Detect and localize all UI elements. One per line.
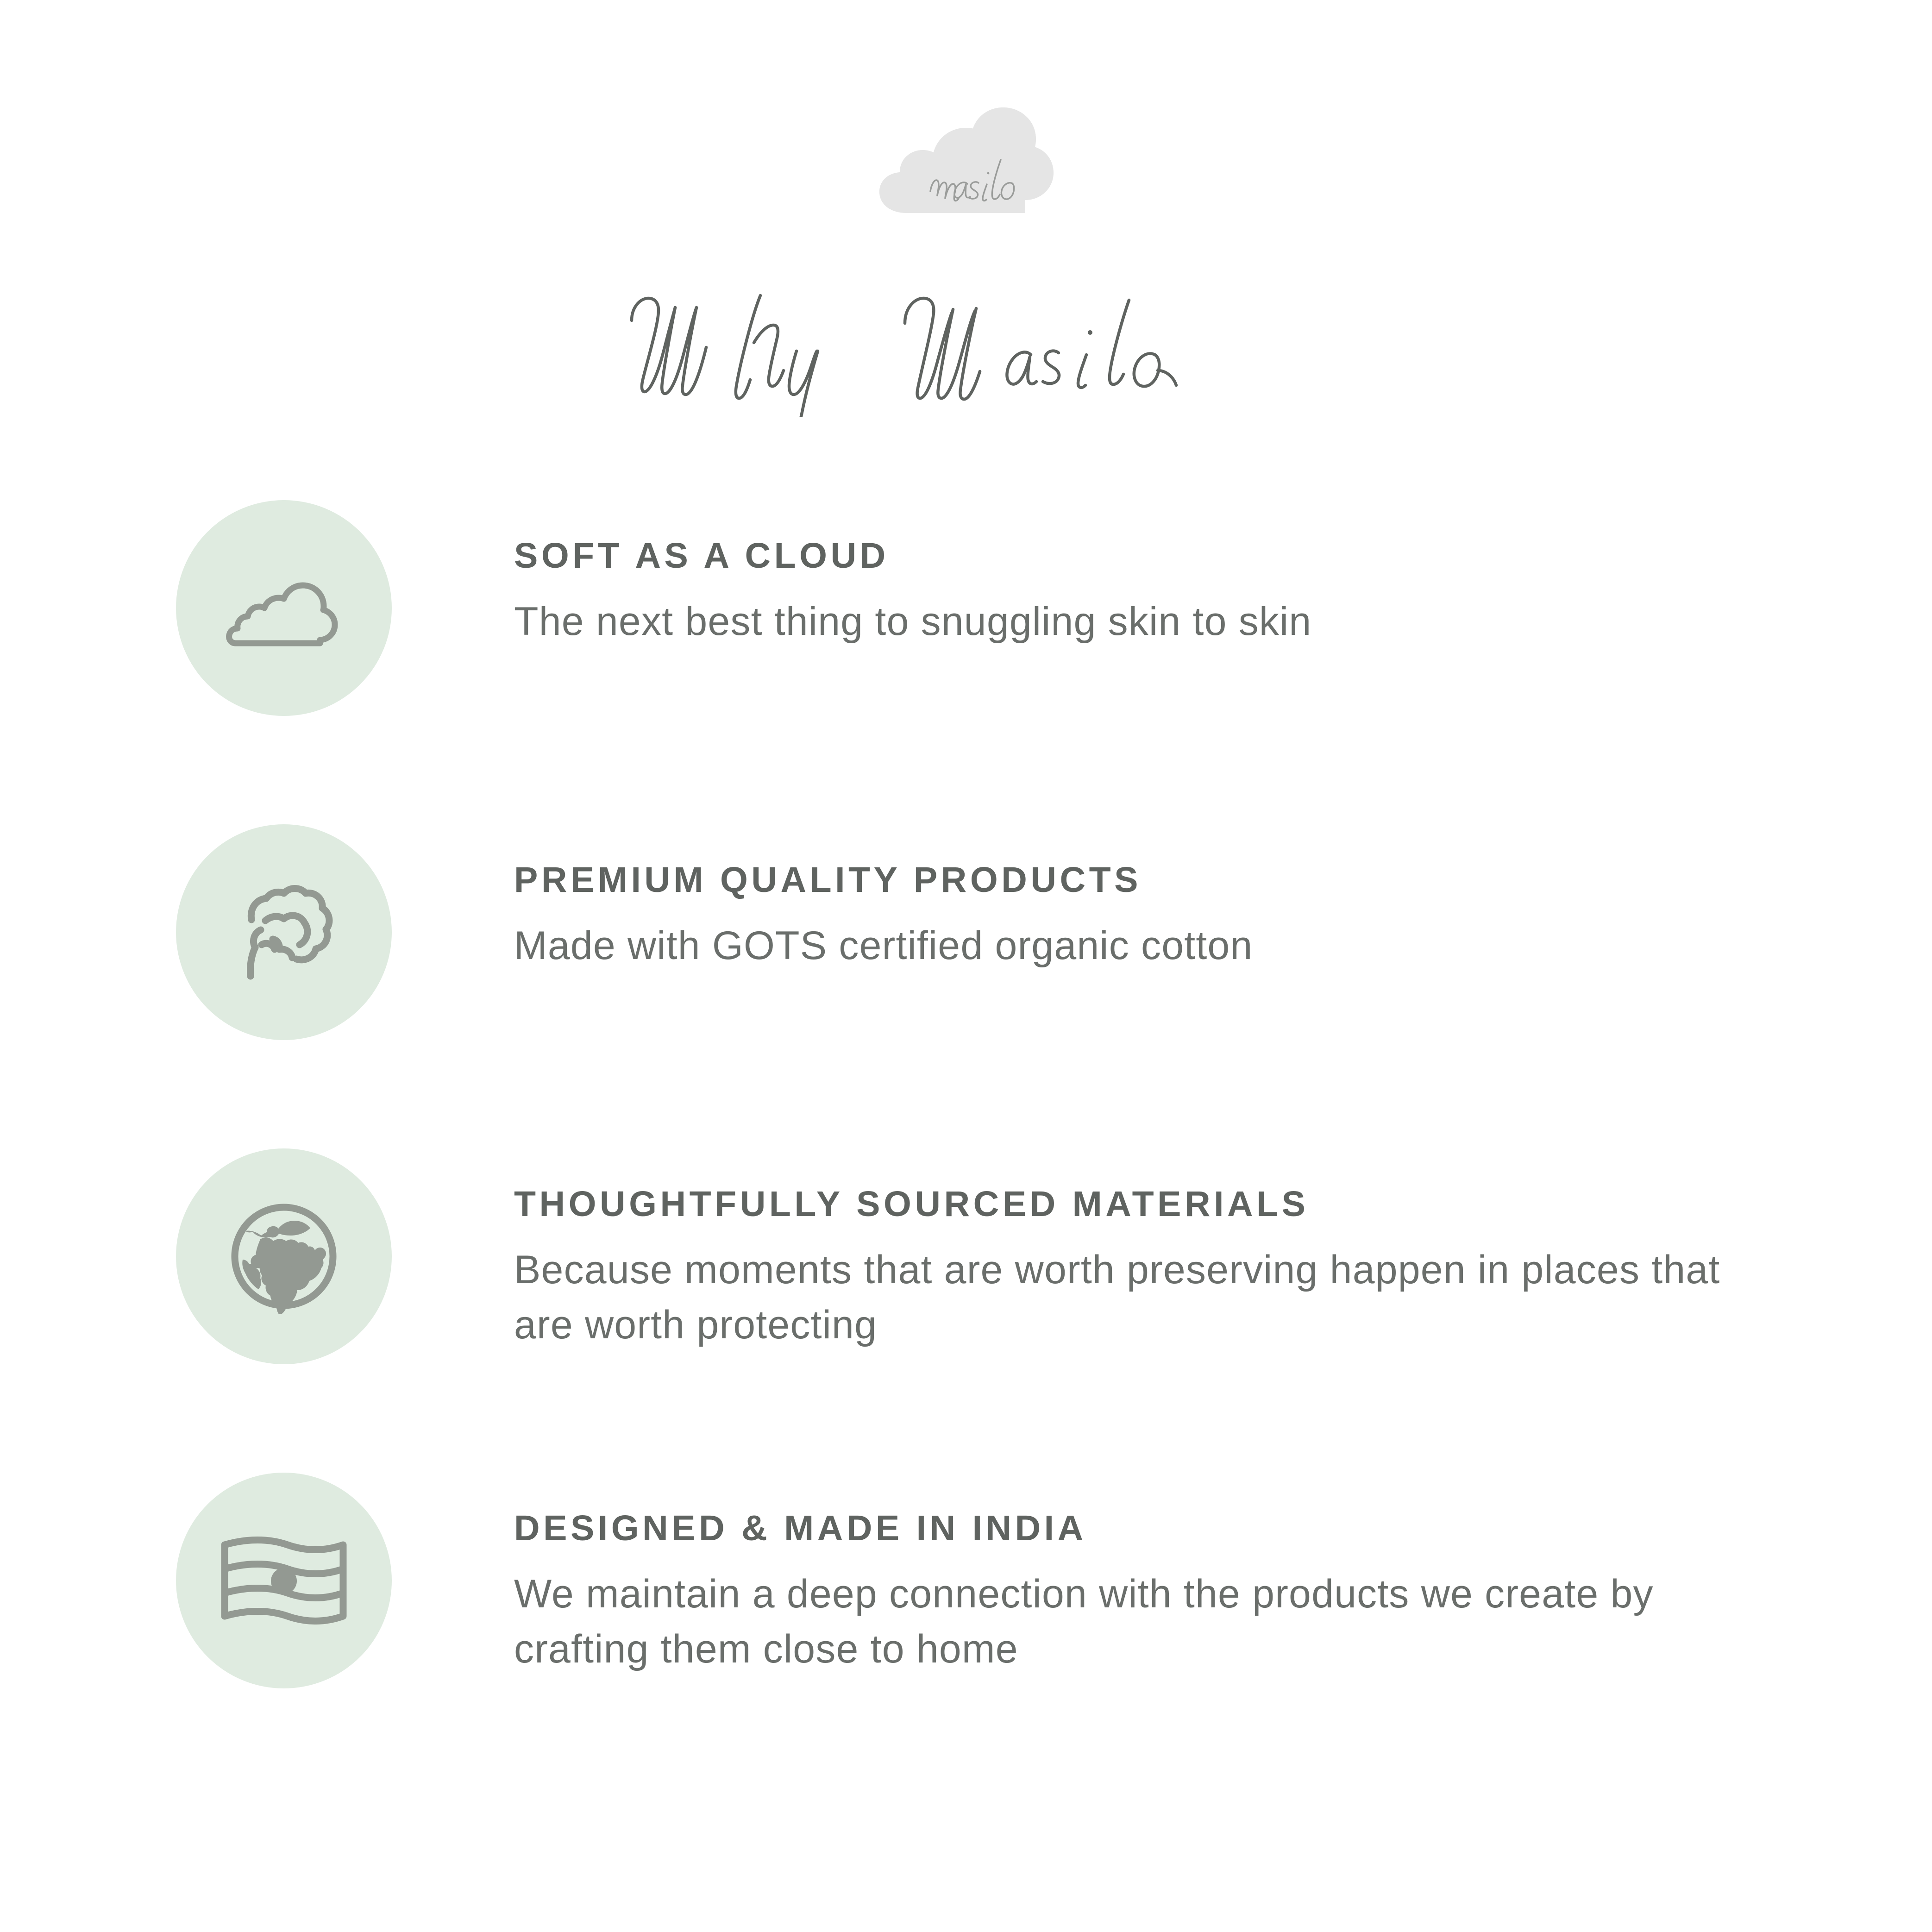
icon-badge [176,824,392,1040]
icon-badge [176,1148,392,1364]
cloud-icon [224,562,344,654]
icon-badge [176,500,392,716]
feature-title: PREMIUM QUALITY PRODUCTS [514,814,1792,898]
feature-text-block: THOUGHTFULLY SOURCED MATERIALS Because m… [514,1138,1792,1352]
feature-description: Made with GOTS certified organic cotton [514,898,1764,973]
feature-row-thoughtfully-sourced-materials: THOUGHTFULLY SOURCED MATERIALS Because m… [0,1138,1932,1462]
feature-text-block: DESIGNED & MADE IN INDIA We maintain a d… [514,1462,1792,1676]
feature-title: THOUGHTFULLY SOURCED MATERIALS [514,1138,1792,1222]
feature-description: We maintain a deep connection with the p… [514,1546,1764,1676]
why-masilo-page: Why Masilo [0,0,1932,1932]
feature-description: Because moments that are worth preservin… [514,1222,1764,1352]
brand-logo [0,106,1932,221]
feature-list: SOFT AS A CLOUD The next best thing to s… [0,490,1932,1787]
feature-title: DESIGNED & MADE IN INDIA [514,1462,1792,1546]
feature-description: The next best thing to snuggling skin to… [514,574,1764,649]
icon-badge [176,1473,392,1688]
why-masilo-script-title: Why Masilo [623,278,1309,417]
feature-text-block: SOFT AS A CLOUD The next best thing to s… [514,490,1792,649]
feature-text-block: PREMIUM QUALITY PRODUCTS Made with GOTS … [514,814,1792,973]
page-title: Why Masilo [0,273,1932,421]
feature-row-premium-quality-products: PREMIUM QUALITY PRODUCTS Made with GOTS … [0,814,1932,1138]
cotton-boll-icon [233,874,335,990]
feature-title: SOFT AS A CLOUD [514,490,1792,574]
india-flag-icon [219,1537,349,1625]
cloud-logo-icon [876,106,1056,221]
feature-row-designed-made-in-india: DESIGNED & MADE IN INDIA We maintain a d… [0,1462,1932,1787]
globe-icon [226,1198,342,1314]
feature-row-soft-as-a-cloud: SOFT AS A CLOUD The next best thing to s… [0,490,1932,814]
